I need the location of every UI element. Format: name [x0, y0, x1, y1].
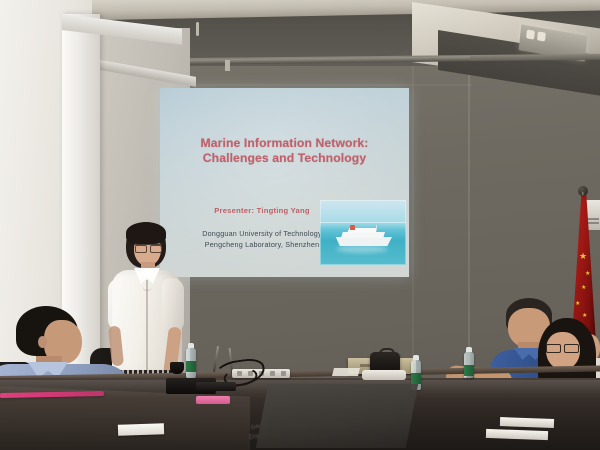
slide-title: Marine Information Network: Challenges a…: [160, 136, 409, 166]
napkin: [332, 368, 360, 376]
pink-folder: [196, 396, 230, 404]
flag-star-icon: ★: [579, 252, 587, 260]
water-bottle-left: [186, 348, 196, 378]
flag-star-icon: ★: [581, 284, 586, 292]
water-bottle-center: [464, 352, 474, 378]
slide-cruise-photo: [320, 200, 406, 265]
projected-slide: Marine Information Network: Challenges a…: [160, 88, 409, 277]
slide-title-line1: Marine Information Network:: [160, 136, 409, 151]
photo-scene: ★ ★ ★ ★ ★ Marine Information Network: Ch…: [0, 0, 600, 450]
sea-horizon: [320, 222, 406, 223]
glasses-icon: [546, 344, 580, 351]
cruise-ship-icon: [334, 226, 392, 246]
desk-mat: [256, 384, 418, 448]
note-paper: [118, 423, 164, 436]
ship-reflection: [336, 245, 388, 253]
note-paper: [500, 417, 554, 428]
glasses-icon: [134, 244, 162, 251]
serving-tray: [362, 370, 406, 380]
dark-mug: [170, 362, 184, 374]
flag-star-icon: ★: [585, 270, 590, 278]
camera-bag: [370, 352, 400, 372]
keypad-device: [196, 382, 236, 391]
ceiling-hook: [196, 22, 199, 36]
slide-title-line2: Challenges and Technology: [160, 151, 409, 166]
rail-clip: [225, 60, 230, 71]
